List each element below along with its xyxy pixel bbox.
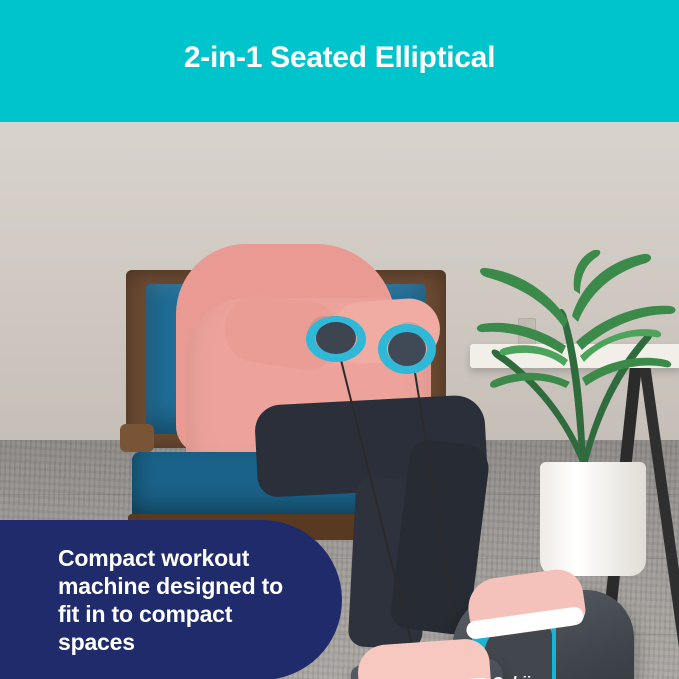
caption-pill: Compact workout machine designed to fit … [0, 520, 342, 679]
banner-header: 2-in-1 Seated Elliptical [0, 0, 679, 122]
banner-title: 2-in-1 Seated Elliptical [184, 40, 495, 76]
handle-grip-left [316, 322, 356, 354]
lifestyle-photo: Cubii Compact workout machine designed t… [0, 122, 679, 679]
product-image-card: 2-in-1 Seated Elliptical [0, 0, 679, 679]
white-planter [540, 462, 646, 576]
palm-plant [476, 250, 679, 480]
chair-armrest [120, 424, 154, 452]
handle-grip-right [388, 332, 426, 366]
brand-logo: Cubii [476, 674, 546, 679]
caption-text: Compact workout machine designed to fit … [0, 544, 339, 656]
